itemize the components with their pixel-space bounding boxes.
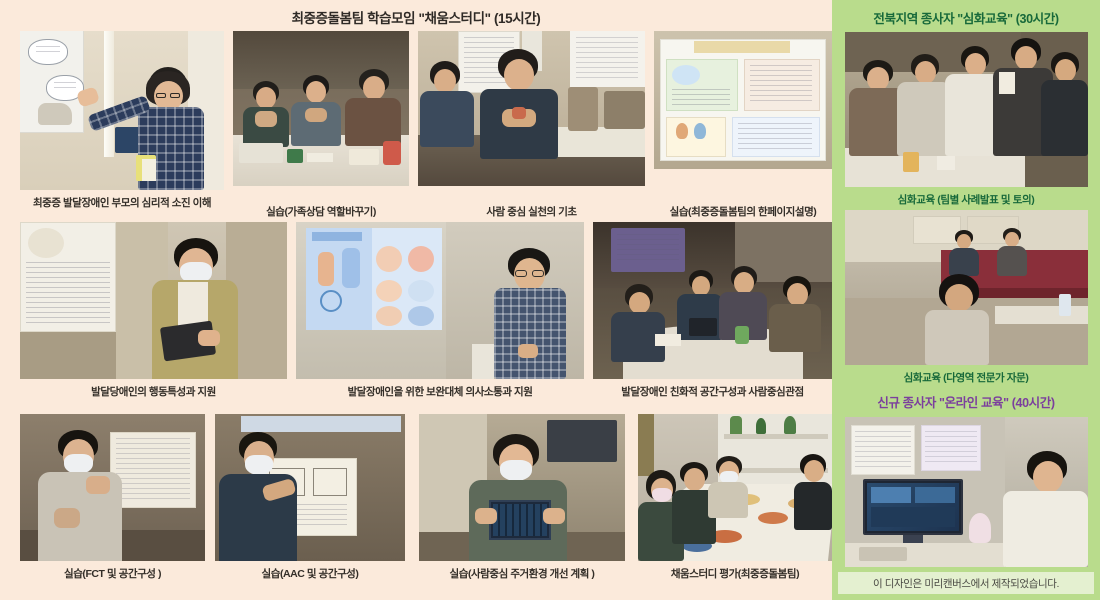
- section-title-online-training: 신규 종사자 "온라인 교육" (40시간): [832, 392, 1100, 411]
- photo-row-1: 최중증 발달장애인 부모의 심리적 소진 이해: [20, 31, 812, 215]
- photo-caption: 실습(FCT 및 공간구성 ): [14, 566, 211, 581]
- section-title-advanced-training: 전북지역 종사자 "심화교육" (30시간): [832, 8, 1100, 27]
- photo-standing-discussion[interactable]: [845, 32, 1088, 187]
- page-title: 최중증돌봄팀 학습모임 "채움스터디" (15시간): [0, 7, 832, 27]
- photo-caption: 실습(최중증돌봄팀의 한페이지설명): [648, 204, 838, 219]
- photo-caption: 심화교육 (팀별 사례발표 및 토의): [832, 192, 1100, 207]
- photo-participant-solar-panel[interactable]: [419, 414, 625, 561]
- photo-caption: 발달당애인의 행동특성과 지원: [14, 384, 293, 399]
- photo-masked-presenter-tablet[interactable]: [20, 222, 287, 379]
- photo-group-roleplay-table[interactable]: [233, 31, 409, 186]
- photo-workshop-hands-on[interactable]: [418, 31, 645, 186]
- photo-caption: 실습(AAC 및 공간구성): [209, 566, 411, 581]
- photo-caption: 최중증 발달장애인 부모의 심리적 소진 이해: [14, 195, 230, 210]
- photo-participant-presenting-paper[interactable]: [20, 414, 205, 561]
- photo-caption: 실습(사람중심 주거환경 개선 계획 ): [413, 566, 631, 581]
- photo-caption: 실습(가족상담 역할바꾸기): [227, 204, 415, 219]
- photo-caption: 채움스터디 평가(최중증돌봄팀): [632, 566, 838, 581]
- left-section: 최중증돌봄팀 학습모임 "채움스터디" (15시간): [0, 0, 832, 600]
- photo-caption: 발달장애인 친화적 공간구성과 사람중심관점: [587, 384, 838, 399]
- photo-presenter-aac-slide[interactable]: [296, 222, 584, 379]
- footer-text: 이 디자인은 미리캔버스에서 제작되었습니다.: [873, 576, 1059, 591]
- footer-band: 이 디자인은 미리캔버스에서 제작되었습니다.: [838, 572, 1094, 594]
- photo-whiteboard-posters[interactable]: [654, 31, 832, 169]
- photo-caption: 사람 중심 실천의 기초: [412, 204, 651, 219]
- photo-lecturer-pointing-slide[interactable]: [20, 31, 224, 190]
- photo-online-desk-monitor[interactable]: [845, 417, 1088, 567]
- right-section: 전북지역 종사자 "심화교육" (30시간): [832, 0, 1100, 600]
- photo-row-2: 발달당애인의 행동특성과 지원: [20, 222, 812, 400]
- photo-row-3: 실습(FCT 및 공간구성 ): [20, 414, 812, 588]
- photo-participant-holding-chart[interactable]: [215, 414, 405, 561]
- photo-auditorium-lecture[interactable]: [845, 210, 1088, 365]
- photo-caption: 발달장애인을 위한 보완대체 의사소통과 지원: [290, 384, 590, 399]
- photo-caption: 심화교육 (다영역 전문가 자문): [832, 370, 1100, 385]
- photo-team-dinner-table[interactable]: [638, 414, 832, 561]
- photo-seminar-round-table[interactable]: [593, 222, 832, 379]
